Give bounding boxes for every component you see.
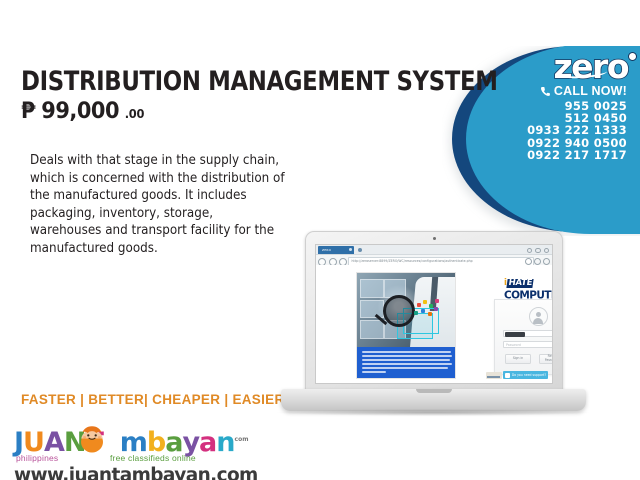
username-value — [505, 332, 525, 337]
browser-right-buttons[interactable] — [525, 258, 550, 265]
brand-wordmark-row: JUANT mbayancom — [14, 425, 264, 455]
sign-in-label: Sign in — [513, 357, 524, 361]
description-text: Deals with that stage in the supply chai… — [30, 152, 288, 258]
maximize-icon[interactable] — [535, 248, 541, 254]
reset-password-label: Reset Password — [540, 355, 553, 362]
call-now-text: CALL NOW! — [554, 84, 627, 98]
window-controls[interactable] — [527, 248, 550, 254]
address-bar-url: http://zeroserver:8899/ZERO/WC/resources… — [349, 258, 533, 265]
laptop-notch — [416, 389, 452, 393]
brand-sub-right: free classifieds online — [110, 453, 196, 463]
close-window-icon[interactable] — [544, 248, 550, 254]
password-placeholder: Password — [506, 343, 521, 348]
chat-icon — [505, 373, 510, 378]
phone-number: 0922 217 1717 — [496, 149, 627, 161]
laptop-shadow — [277, 409, 589, 416]
password-field[interactable]: Password — [503, 341, 553, 348]
site-logo-line1: iHATE — [504, 279, 553, 288]
sign-in-button[interactable]: Sign in — [505, 354, 531, 364]
call-now-label: CALL NOW! — [496, 84, 627, 98]
browser-tab-strip: ZERO — [316, 245, 552, 255]
site-logo-highlight: HATE — [506, 279, 534, 288]
phone-number: 0933 222 1333 — [496, 124, 627, 136]
mascot-icon — [78, 423, 106, 453]
contact-content: zero CALL NOW! 955 0025 512 0450 0933 22… — [496, 50, 636, 161]
browser-tab[interactable]: ZERO — [318, 246, 354, 254]
support-partner-logo — [486, 372, 502, 379]
login-buttons: Sign in Reset Password — [505, 354, 553, 364]
phone-icon — [540, 86, 551, 97]
web-page: iHATE COMPUTER.com — [316, 265, 552, 383]
brand-url: www.juantambayan.com — [14, 465, 264, 480]
poster-canvas: zero CALL NOW! 955 0025 512 0450 0933 22… — [0, 0, 640, 480]
user-avatar-icon — [529, 307, 548, 326]
price-amount: 99,000 — [41, 101, 119, 123]
brand-sub-left: philippines — [16, 453, 58, 463]
browser-tab-title: ZERO — [322, 248, 331, 252]
webcam-icon — [433, 237, 436, 240]
promo-image — [356, 272, 456, 379]
username-field[interactable] — [503, 330, 553, 337]
brand-subtitles: philippines free classifieds online — [14, 453, 264, 464]
price-block: ₱ 99,000 .00 — [21, 101, 144, 123]
bookmark-icon[interactable] — [534, 258, 541, 265]
support-widget[interactable]: Do you need support? — [486, 371, 548, 379]
page-title: DISTRIBUTION MANAGEMENT SYSTEM — [21, 68, 498, 95]
promo-caption — [357, 347, 456, 378]
login-card: Password Sign in Reset Password — [494, 299, 553, 375]
phone-number-list: 955 0025 512 0450 0933 222 1333 0922 940… — [496, 100, 627, 161]
laptop-screen: ZERO — [315, 244, 553, 384]
zero-logo: zero — [553, 50, 628, 83]
settings-icon[interactable] — [543, 258, 550, 265]
minimize-icon[interactable] — [527, 248, 533, 254]
reset-password-button[interactable]: Reset Password — [539, 354, 553, 364]
zero-degree-icon — [628, 52, 637, 61]
laptop-mockup: ZERO — [281, 231, 586, 426]
footer-branding: JUANT mbayancom philippines free classif… — [14, 425, 264, 480]
search-icon[interactable] — [525, 258, 532, 265]
new-tab-icon[interactable] — [358, 248, 362, 252]
support-chat-button[interactable]: Do you need support? — [503, 371, 548, 379]
tagline: FASTER | BETTER| CHEAPER | EASIER — [21, 392, 285, 407]
close-icon[interactable] — [349, 248, 352, 251]
support-chat-label: Do you need support? — [512, 373, 546, 377]
currency-symbol: ₱ — [21, 101, 36, 123]
promo-photo — [357, 273, 456, 349]
price-cents: .00 — [125, 108, 144, 120]
laptop-base — [281, 389, 586, 411]
brand-trademark: com — [235, 425, 249, 455]
phone-number: 0922 940 0500 — [496, 137, 627, 149]
laptop-lid: ZERO — [305, 231, 563, 394]
